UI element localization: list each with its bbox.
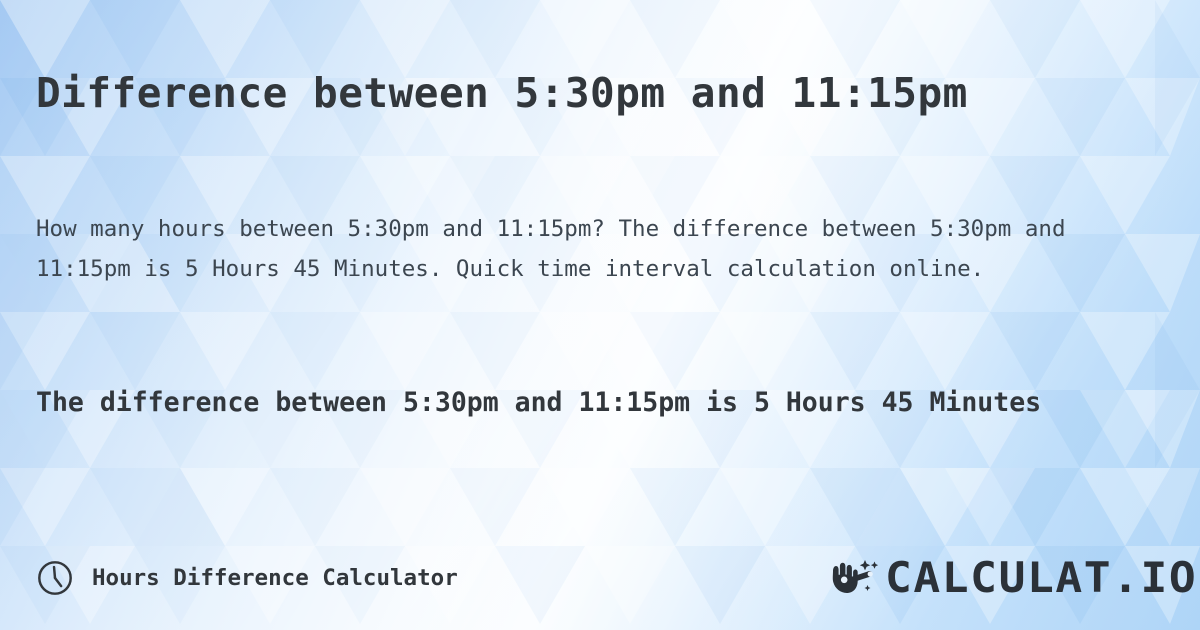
intro-paragraph: How many hours between 5:30pm and 11:15p… xyxy=(36,209,1126,289)
brand-name: CALCULAT.IO xyxy=(885,557,1197,599)
footer: Hours Difference Calculator xyxy=(0,554,1200,602)
card-content: Difference between 5:30pm and 11:15pm Ho… xyxy=(0,0,1200,630)
share-card: Difference between 5:30pm and 11:15pm Ho… xyxy=(0,0,1200,630)
brand-name-wrap: CALCULAT.IO xyxy=(885,557,1180,599)
brand-logo[interactable]: CALCULAT.IO xyxy=(827,554,1180,602)
clock-icon xyxy=(36,559,74,597)
page-title: Difference between 5:30pm and 11:15pm xyxy=(36,69,968,117)
footer-tool: Hours Difference Calculator xyxy=(36,554,458,602)
magic-wand-hand-icon xyxy=(827,557,883,599)
footer-tool-label: Hours Difference Calculator xyxy=(92,565,458,591)
result-heading: The difference between 5:30pm and 11:15p… xyxy=(36,379,1151,427)
